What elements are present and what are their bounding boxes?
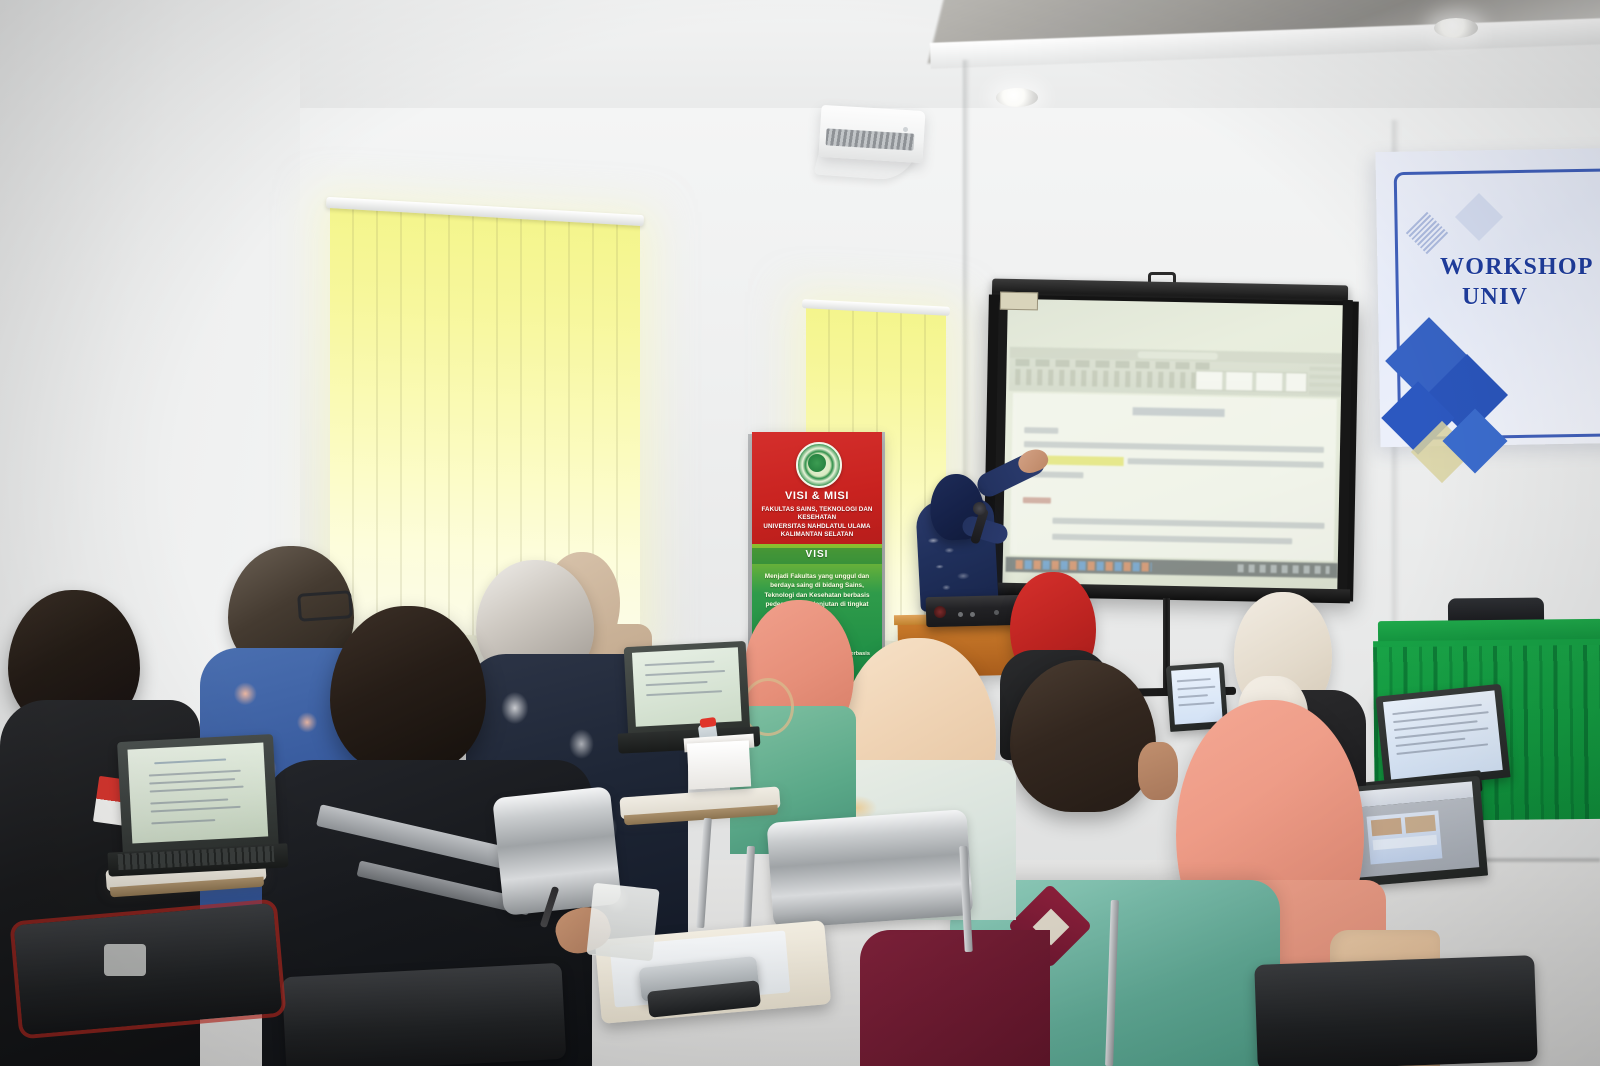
projector-port-icon bbox=[994, 610, 999, 615]
ceiling-downlight-icon bbox=[996, 88, 1038, 107]
laptop-screen bbox=[127, 743, 268, 844]
microphone-head-icon bbox=[973, 502, 986, 515]
workshop-banner-title: WORKSHOP UNIV bbox=[1440, 252, 1600, 312]
ac-led-icon bbox=[903, 127, 908, 132]
chair-sticker bbox=[104, 944, 146, 976]
word-document-page bbox=[1010, 393, 1337, 561]
participant-short-hair bbox=[1010, 660, 1156, 812]
document-label-visi bbox=[1024, 427, 1058, 434]
faculty-line-1: FAKULTAS SAINS, TEKNOLOGI DAN KESEHATAN bbox=[755, 506, 879, 523]
chair-back[interactable] bbox=[282, 963, 567, 1066]
banner-section-label: VISI bbox=[752, 549, 882, 560]
laptop-screen bbox=[632, 647, 742, 726]
word-styles-gallery bbox=[1195, 370, 1307, 392]
plastic-bag bbox=[586, 883, 659, 962]
chair-back[interactable] bbox=[767, 809, 974, 929]
projector-led-icon bbox=[958, 612, 963, 617]
document-label-misi bbox=[1023, 497, 1051, 504]
banner-faculty-lines: FAKULTAS SAINS, TEKNOLOGI DAN KESEHATAN … bbox=[752, 506, 882, 540]
projection-screen bbox=[997, 299, 1350, 591]
participant-shirt-maroon bbox=[860, 930, 1050, 1066]
document-text-line bbox=[1052, 518, 1324, 529]
ceiling-downlight-icon bbox=[1434, 18, 1478, 38]
laptop-screen bbox=[1383, 690, 1503, 781]
document-highlighted-text bbox=[1038, 455, 1124, 466]
chair-back[interactable] bbox=[14, 903, 283, 1035]
document-text-line bbox=[1052, 534, 1292, 545]
projector-lens-icon bbox=[934, 606, 946, 618]
word-application-window bbox=[1006, 347, 1342, 578]
glasses-icon bbox=[297, 590, 353, 622]
banner-title-line2: UNIV bbox=[1440, 282, 1600, 312]
banner-title-line1: WORKSHOP bbox=[1440, 252, 1600, 282]
participant-ear bbox=[1138, 742, 1178, 800]
banner-heading: VISI & MISI bbox=[752, 490, 882, 502]
snack-box[interactable] bbox=[687, 740, 751, 789]
faculty-line-2: UNIVERSITAS NAHDLATUL ULAMA bbox=[755, 523, 879, 531]
word-editing-group bbox=[1309, 367, 1342, 396]
document-title-line bbox=[1133, 407, 1225, 417]
projector-led-icon bbox=[970, 612, 975, 617]
document-text-line bbox=[1128, 458, 1324, 468]
faculty-line-3: KALIMANTAN SELATAN bbox=[755, 531, 879, 539]
university-logo-inner-icon bbox=[808, 454, 826, 472]
classroom-photo: WORKSHOP UNIV VISI & MISI FAKULTAS SAINS… bbox=[0, 0, 1600, 1066]
laptop-screen bbox=[1171, 667, 1223, 724]
word-search-box bbox=[1138, 351, 1218, 360]
chair-back[interactable] bbox=[1254, 955, 1538, 1066]
laptop[interactable] bbox=[117, 734, 279, 858]
document-text-line bbox=[1024, 441, 1324, 453]
participant-dark-jacket-head bbox=[330, 606, 486, 774]
laptop[interactable] bbox=[624, 641, 751, 739]
screen-clamp-icon bbox=[1000, 292, 1038, 311]
